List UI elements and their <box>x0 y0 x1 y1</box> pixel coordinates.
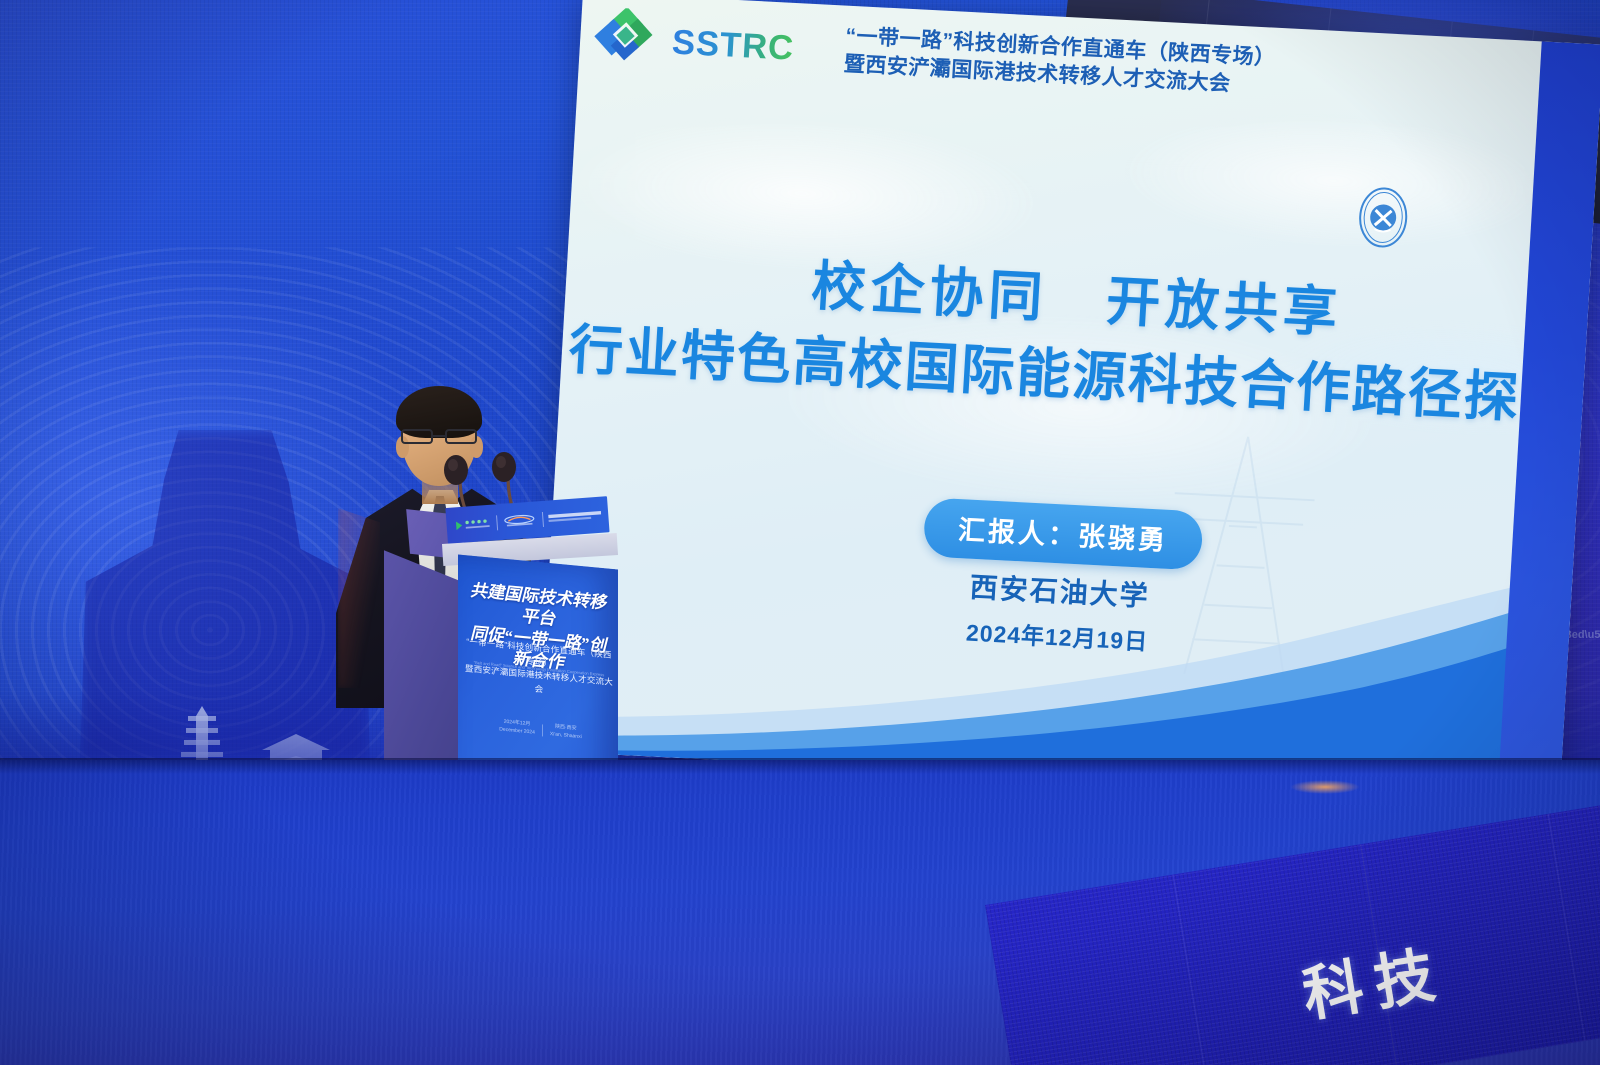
lectern-date-divider <box>542 724 543 736</box>
conference-photo-scene: \u4e2d\u6b27\u73ed\u5217 <box>0 0 1600 1065</box>
slide-surface: SSTRC “一带一路”科技创新合作直通车（陕西专场） 暨西安浐灞国际港技术转移… <box>539 0 1600 803</box>
lectern-city-en: Xi'an, Shaanxi <box>550 731 582 742</box>
logo-divider-2 <box>542 511 544 526</box>
xian-shiyou-university-seal <box>1353 182 1413 253</box>
xian-international-port-logo <box>501 513 538 529</box>
sstrc-wordmark: SSTRC <box>669 21 832 71</box>
svg-text:SSTRC: SSTRC <box>671 24 795 68</box>
belt-and-road-event-logo <box>548 508 602 525</box>
logo-divider-1 <box>496 515 498 530</box>
tech-transfer-center-logo <box>453 516 491 532</box>
projection-screen: SSTRC “一带一路”科技创新合作直通车（陕西专场） 暨西安浐灞国际港技术转移… <box>539 0 1600 803</box>
glasses-icon <box>400 428 480 445</box>
sstrc-logo-icon <box>593 7 659 72</box>
stage-floor-edge <box>0 758 1600 774</box>
floor-light-reflection <box>1290 780 1360 794</box>
lectern-date-block: 2024年12月 December 2024 陕西·西安 Xi'an, Shaa… <box>478 716 603 743</box>
